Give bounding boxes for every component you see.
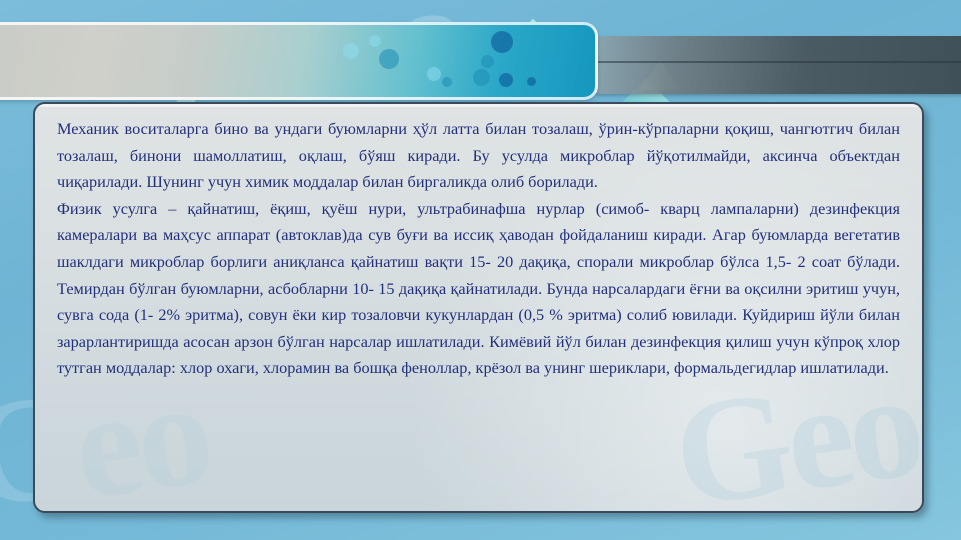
- presentation-slide: Geo Geo eo Geo eo Geo eo Механик воситал…: [0, 0, 961, 540]
- header-banner: [0, 22, 598, 100]
- molecule-node-icon: [369, 35, 381, 47]
- molecule-node-icon: [427, 67, 441, 81]
- paragraph-mechanical-methods: Механик воситаларга бино ва ундаги буюмл…: [57, 116, 900, 196]
- slide-text-body: Механик воситаларга бино ва ундаги буюмл…: [35, 104, 922, 382]
- molecule-node-icon: [442, 77, 452, 87]
- content-panel: Geo eo Механик воситаларга бино ва ундаг…: [33, 102, 924, 513]
- header-dark-bar: [592, 36, 961, 94]
- molecule-node-icon: [527, 77, 536, 86]
- header-divider-line: [592, 61, 961, 63]
- molecule-node-icon: [379, 49, 399, 69]
- molecule-node-icon: [481, 55, 494, 68]
- molecule-node-icon: [473, 69, 490, 86]
- molecule-node-icon: [491, 31, 513, 53]
- molecule-node-icon: [499, 73, 513, 87]
- paragraph-physical-methods: Физик усулга – қайнатиш, ёқиш, қуёш нури…: [57, 196, 900, 382]
- molecule-node-icon: [343, 43, 359, 59]
